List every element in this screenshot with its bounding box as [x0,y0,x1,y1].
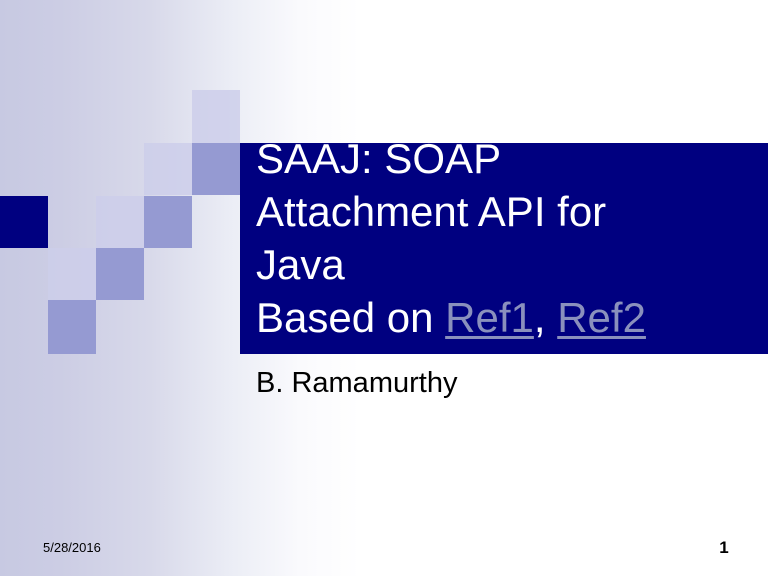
decorative-square-navy-left [0,196,48,248]
decorative-square-light-3 [96,196,144,248]
footer-page-number: 1 [710,538,738,558]
decorative-square-mid-3 [96,248,144,300]
decorative-square-light-1 [192,90,240,143]
footer-date: 5/28/2016 [43,540,101,555]
slide-canvas: SAAJ: SOAP Attachment API for Java Based… [0,0,768,576]
author-subtitle: B. Ramamurthy [256,366,457,400]
link-ref2[interactable]: Ref2 [557,294,646,341]
decorative-square-light-4 [48,248,96,300]
link-separator: , [534,294,557,341]
decorative-square-mid-4 [48,300,96,354]
link-ref1[interactable]: Ref1 [445,294,534,341]
title-line-3: Java [256,238,756,291]
title-line-2: Attachment API for [256,185,756,238]
title-line-1: SAAJ: SOAP [256,132,756,185]
decorative-square-mid-2 [144,196,192,248]
based-on-label: Based on [256,294,445,341]
decorative-square-mid-1 [192,143,240,195]
title-line-4: Based on Ref1, Ref2 [256,291,756,344]
page-title: SAAJ: SOAP Attachment API for Java Based… [256,132,756,344]
decorative-square-light-2 [144,143,192,195]
